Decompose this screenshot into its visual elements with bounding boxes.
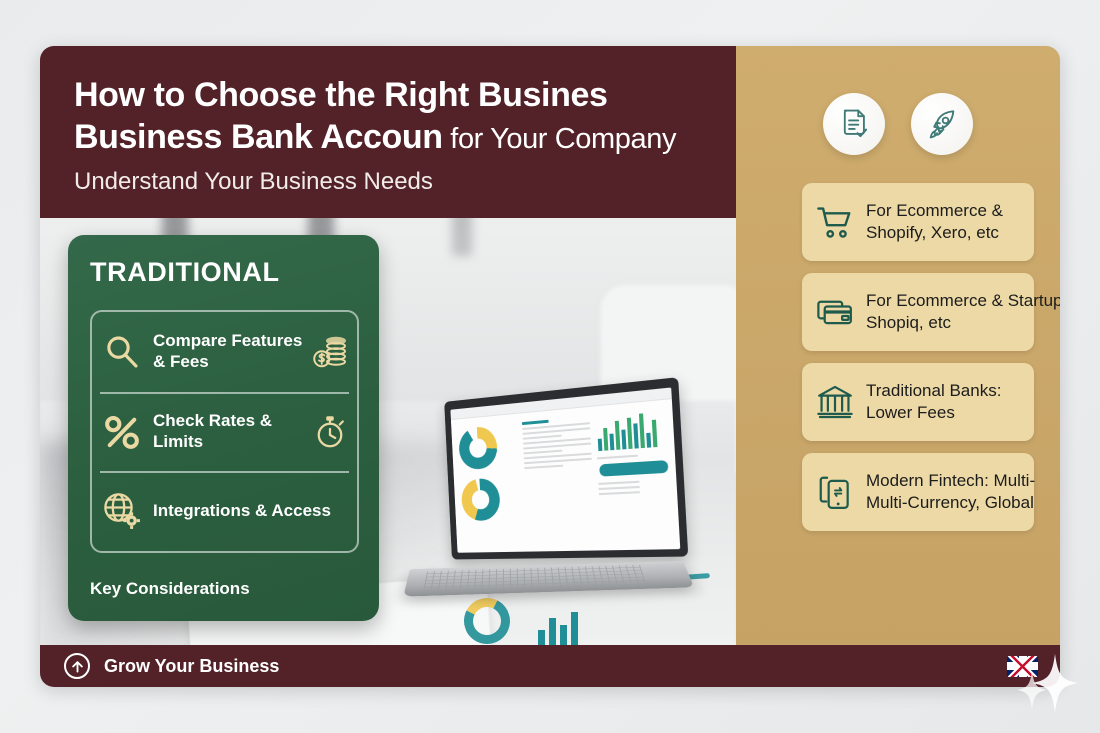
text-line xyxy=(524,465,563,469)
sidebar-card-line2: Shopify, Xero, etc xyxy=(866,223,999,242)
page-title-line1: How to Choose the Right Busines xyxy=(74,74,736,116)
document-check-badge[interactable] xyxy=(823,93,885,155)
dashboard-bar-chart xyxy=(596,410,669,451)
list-item[interactable]: Check Rates & Limits xyxy=(92,392,357,472)
infographic-card: How to Choose the Right Busines Business… xyxy=(40,46,1060,687)
sidebar-card-text: Traditional Banks: Lower Fees xyxy=(866,380,1001,424)
sidebar-card-text: For Ecommerce & Shopify, Xero, etc xyxy=(866,200,1003,244)
page-title-bold: Business Bank Accoun xyxy=(74,118,443,156)
sidebar-card-traditional-banks[interactable]: Traditional Banks: Lower Fees xyxy=(802,363,1034,441)
list-item[interactable]: Integrations & Access xyxy=(92,471,357,551)
arrow-up-circle-icon[interactable] xyxy=(64,653,90,679)
list-item-label: Integrations & Access xyxy=(153,501,348,522)
sidebar-card-list: For Ecommerce & Shopify, Xero, etc xyxy=(736,155,1060,531)
page-title-suffix: for Your Company xyxy=(450,123,676,155)
sidebar-card-line1: Modern Fintech: Multi- xyxy=(866,471,1035,490)
dashboard-col-metrics xyxy=(594,406,675,544)
sidebar-card-ecommerce-shopify[interactable]: For Ecommerce & Shopify, Xero, etc xyxy=(802,183,1034,261)
list-item[interactable]: Compare Features & Fees xyxy=(92,312,357,392)
sidebar-card-line2: Shopiq, etc xyxy=(866,313,951,332)
traditional-card: TRADITIONAL Compare Features & Fees xyxy=(68,235,379,621)
traditional-card-list: Compare Features & Fees xyxy=(90,310,359,553)
text-line xyxy=(522,420,548,425)
text-line xyxy=(524,450,562,455)
list-item-label: Compare Features & Fees xyxy=(153,331,306,372)
footer-label: Grow Your Business xyxy=(104,656,1007,677)
laptop-keys xyxy=(423,565,646,591)
magnifier-icon xyxy=(101,331,143,373)
text-line xyxy=(598,491,640,495)
traditional-card-title: TRADITIONAL xyxy=(90,257,359,288)
laptop-keyboard-base xyxy=(403,561,694,597)
laptop-lid xyxy=(444,377,688,559)
sidebar-card-line1: Traditional Banks: xyxy=(866,381,1001,400)
sidebar-card-line2: Multi-Currency, Global xyxy=(866,493,1034,512)
sidebar-card-modern-fintech[interactable]: Modern Fintech: Multi- Multi-Currency, G… xyxy=(802,453,1034,531)
text-line xyxy=(523,435,561,440)
dashboard-col-charts xyxy=(455,420,524,547)
dashboard-donut-chart xyxy=(458,425,498,470)
coin-stack-dollar-icon xyxy=(312,334,348,370)
percent-icon xyxy=(101,411,143,453)
document-check-icon xyxy=(837,107,871,141)
sidebar: For Ecommerce & Shopify, Xero, etc xyxy=(736,46,1060,687)
text-line xyxy=(524,458,591,464)
dashboard-donut-chart xyxy=(461,478,501,522)
screen-dashboard xyxy=(451,399,680,553)
uk-flag-icon xyxy=(1007,656,1038,677)
rocket-badge[interactable] xyxy=(911,93,973,155)
header-band: How to Choose the Right Busines Business… xyxy=(40,46,736,218)
sidebar-card-line2: Lower Fees xyxy=(866,403,955,422)
bank-building-icon xyxy=(816,383,854,421)
traditional-card-footer: Key Considerations xyxy=(90,579,359,599)
list-item-label: Check Rates & Limits xyxy=(153,411,306,452)
stopwatch-icon xyxy=(312,414,348,450)
dashboard-col-text xyxy=(522,413,596,546)
page-title-line2: Business Bank Accoun for Your Company xyxy=(74,116,736,158)
text-line xyxy=(598,486,640,490)
laptop-screen xyxy=(450,387,680,552)
dashboard-cta-button[interactable] xyxy=(599,460,669,477)
footer-bar: Grow Your Business xyxy=(40,645,1060,687)
shopping-cart-icon xyxy=(816,203,854,241)
page-subtitle: Understand Your Business Needs xyxy=(74,168,736,196)
text-line xyxy=(598,481,640,485)
page-canvas: How to Choose the Right Busines Business… xyxy=(0,0,1100,733)
credit-cards-icon xyxy=(816,293,854,331)
laptop xyxy=(408,386,708,636)
globe-gear-icon xyxy=(101,490,143,532)
sidebar-card-ecommerce-startups[interactable]: For Ecommerce & Startups: Shopiq, etc xyxy=(802,273,1034,351)
sidebar-card-line1: For Ecommerce & Startups: xyxy=(866,291,1060,310)
text-line xyxy=(596,455,638,460)
rocket-icon xyxy=(925,107,959,141)
sidebar-card-text: For Ecommerce & Startups: Shopiq, etc xyxy=(866,290,1060,334)
sidebar-card-line1: For Ecommerce & xyxy=(866,201,1003,220)
mobile-devices-icon xyxy=(816,473,854,511)
badge-row xyxy=(736,46,1060,155)
sidebar-card-text: Modern Fintech: Multi- Multi-Currency, G… xyxy=(866,470,1035,514)
